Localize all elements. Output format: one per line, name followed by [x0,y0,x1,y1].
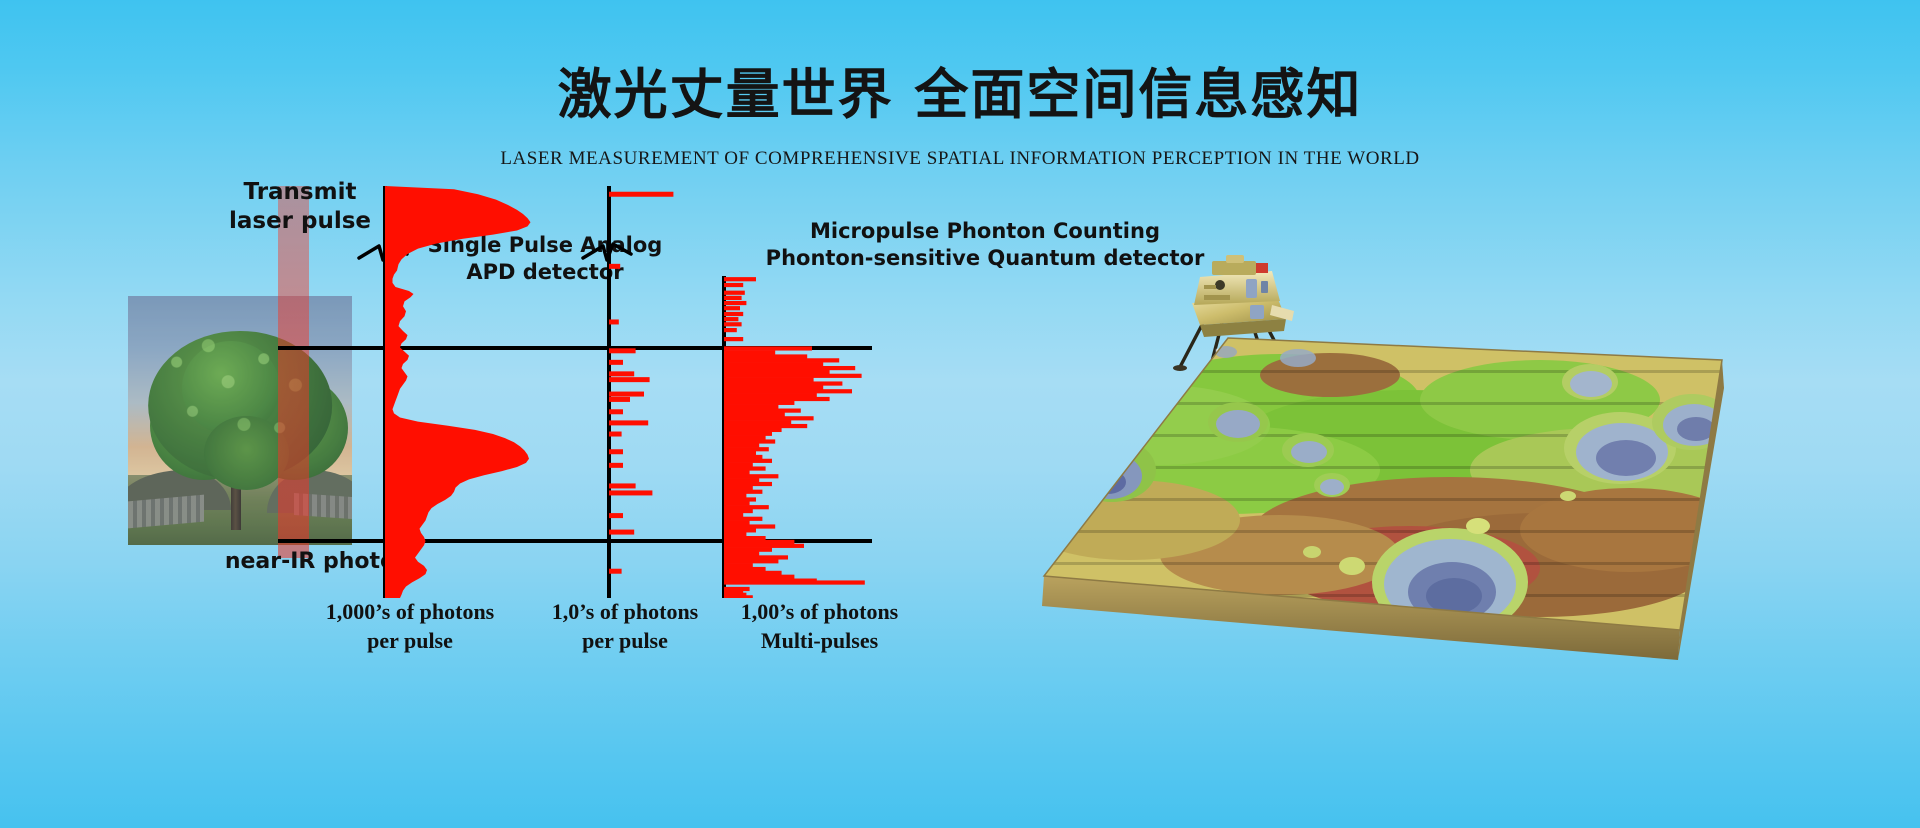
transmit-pulse-label: Transmit laser pulse [210,178,390,237]
single-pulse-analog-waveform-chart [385,186,535,598]
left-plot-caption: 1,000’s of photons per pulse [295,598,525,655]
poster-stage: 激光丈量世界 全面空间信息感知 LASER MEASUREMENT OF COM… [0,0,1920,828]
photon-counting-single-shot-chart [609,186,679,598]
page-subtitle: LASER MEASUREMENT OF COMPREHENSIVE SPATI… [0,148,1920,170]
micropulse-photon-counting-chart [724,276,884,598]
page-title: 激光丈量世界 全面空间信息感知 [0,50,1920,129]
3d-terrain-scene [980,255,1740,725]
right-plot-caption: 1,00’s of photons Multi-pulses [702,598,937,655]
photo-overlay [128,296,352,545]
laser-beam-icon [278,186,309,558]
tree-photo-icon [128,296,352,545]
3d-terrain-icon [980,330,1740,725]
